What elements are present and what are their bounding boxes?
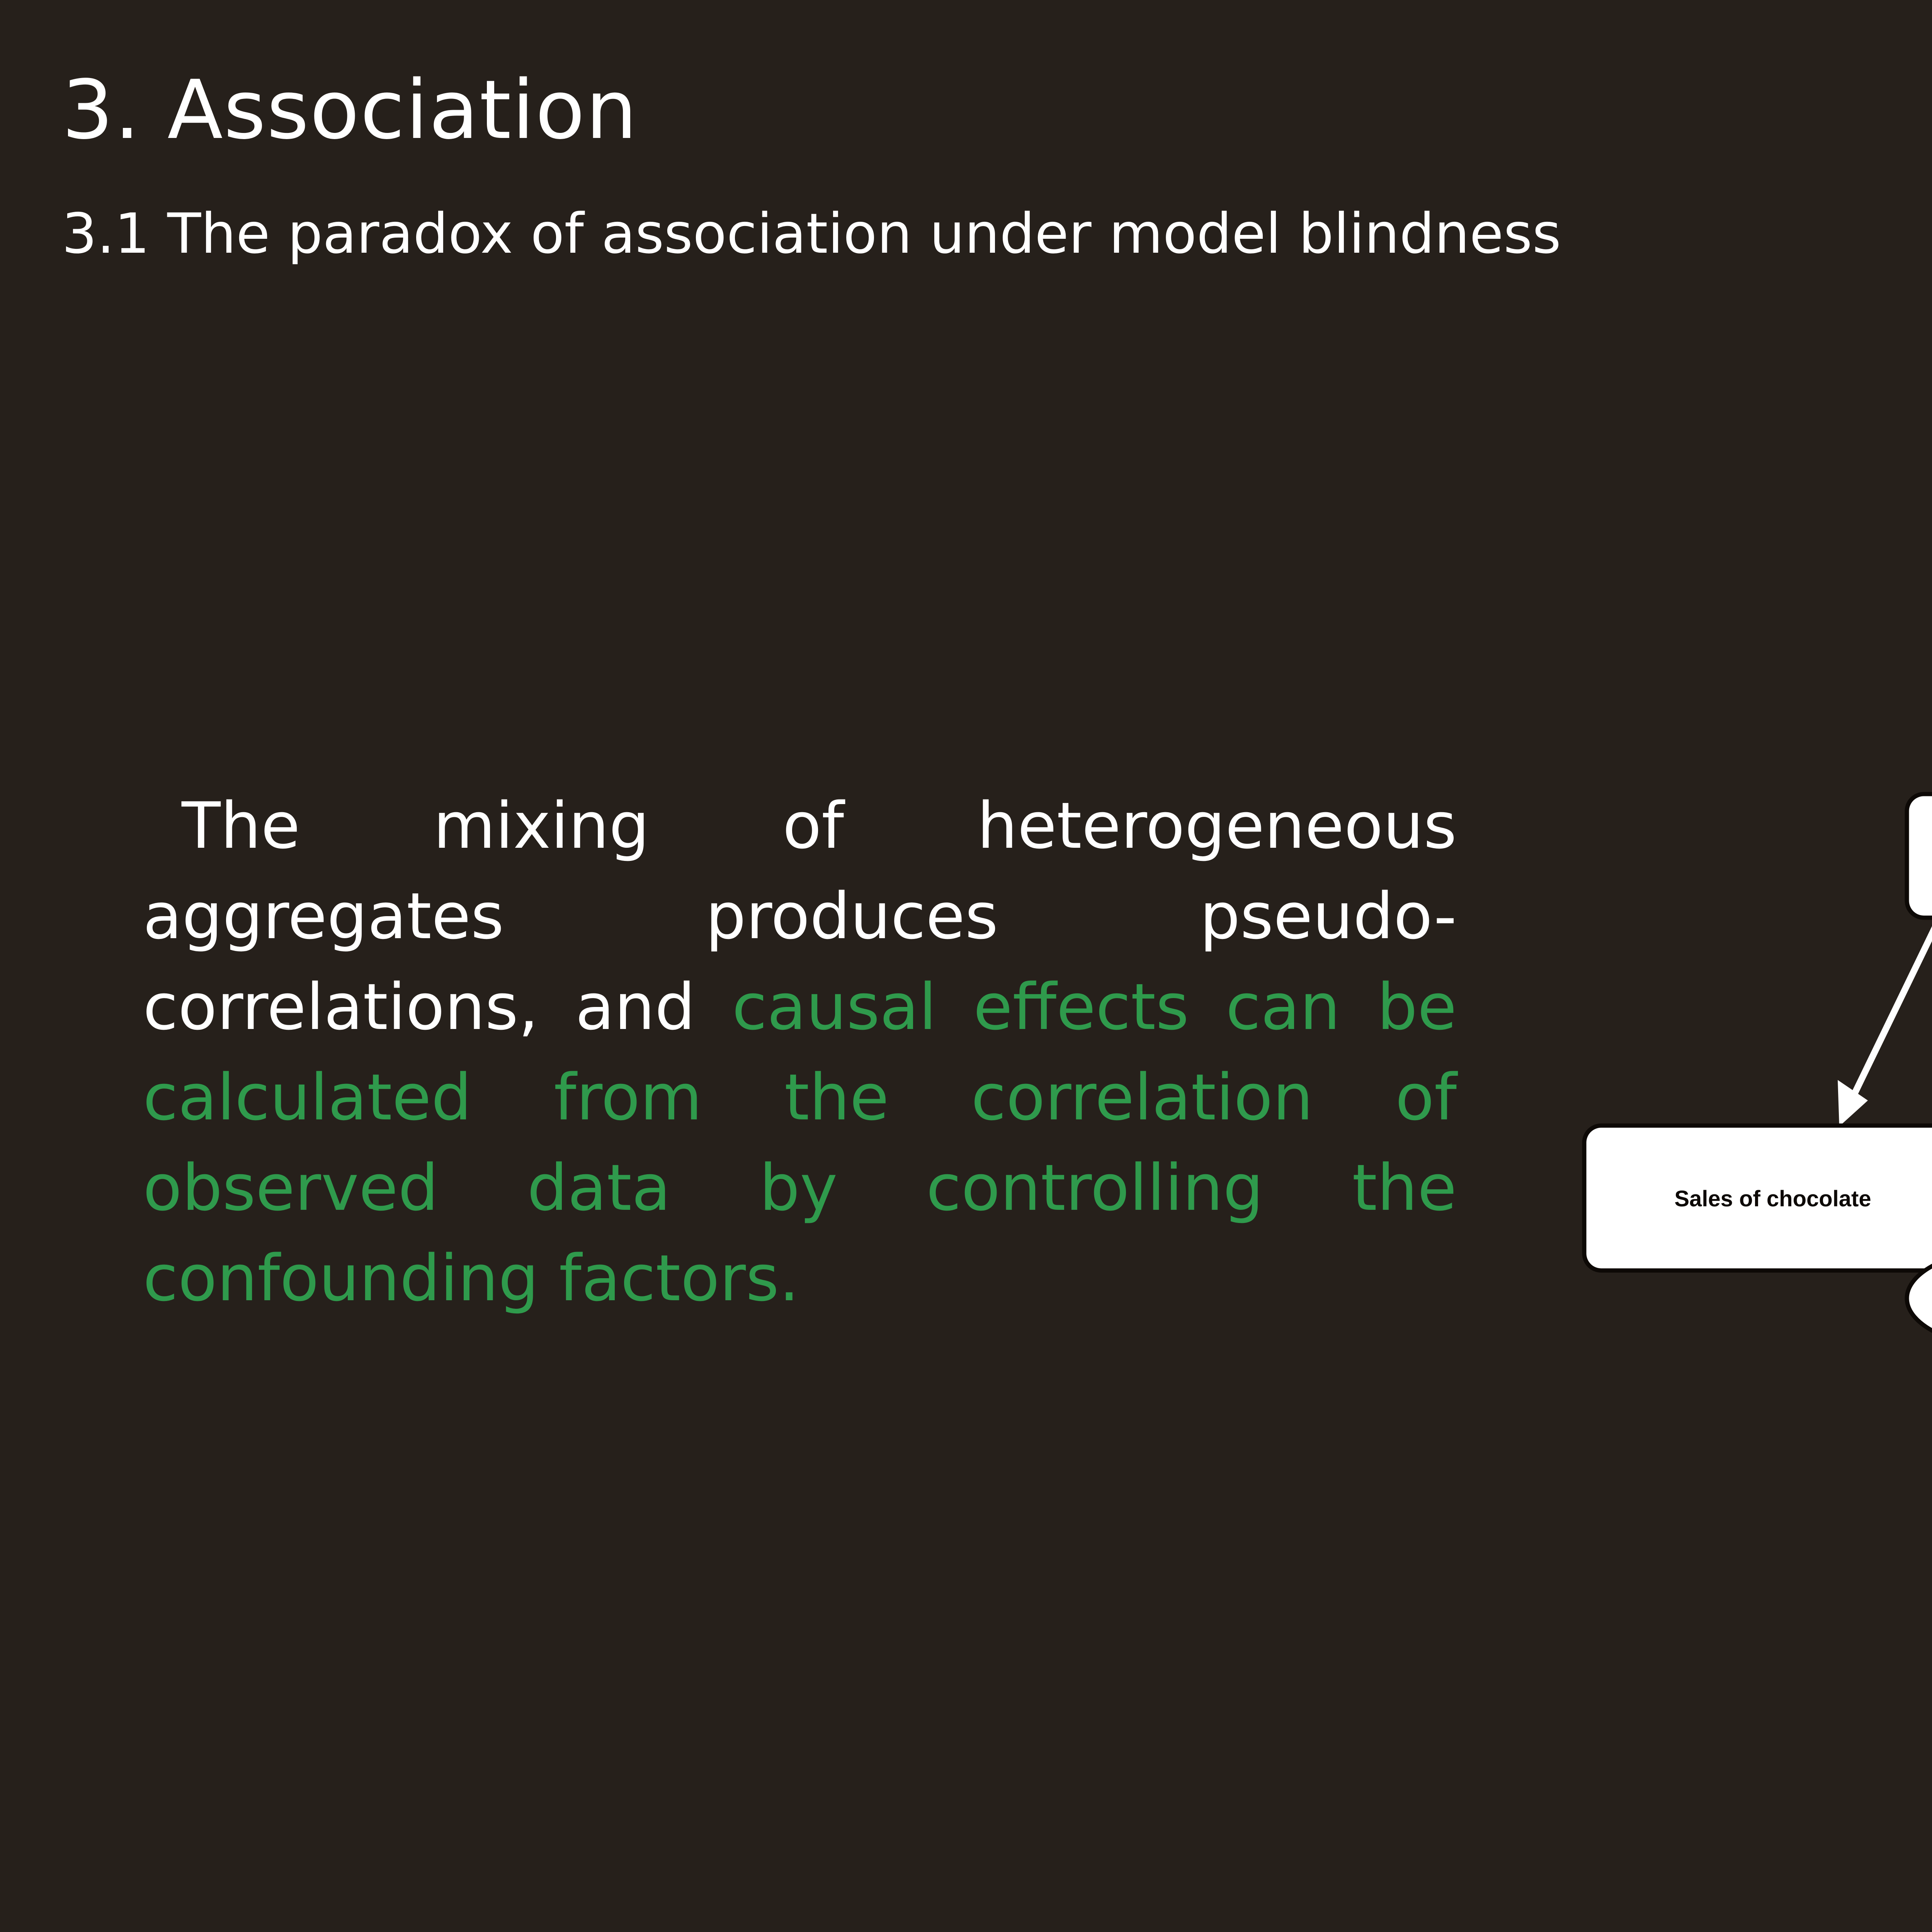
body-paragraph: The mixing of heterogeneous aggregates p… [143,781,1457,1324]
node-chocolate[interactable]: Sales of chocolate [1584,1126,1932,1270]
page-title: 3. Association [62,68,638,153]
node-chocolate-label: Sales of chocolate [1674,1186,1871,1211]
causal-diagram: .nodebox { fill:#ffffff; stroke:#0d0906;… [1546,703,1932,1337]
node-confounder[interactable]: Economic situation and geographic locati… [1907,794,1932,918]
page-subtitle: 3.1 The paradox of association under mod… [62,205,1561,263]
edge-confounder-to-chocolate [1838,918,1932,1126]
